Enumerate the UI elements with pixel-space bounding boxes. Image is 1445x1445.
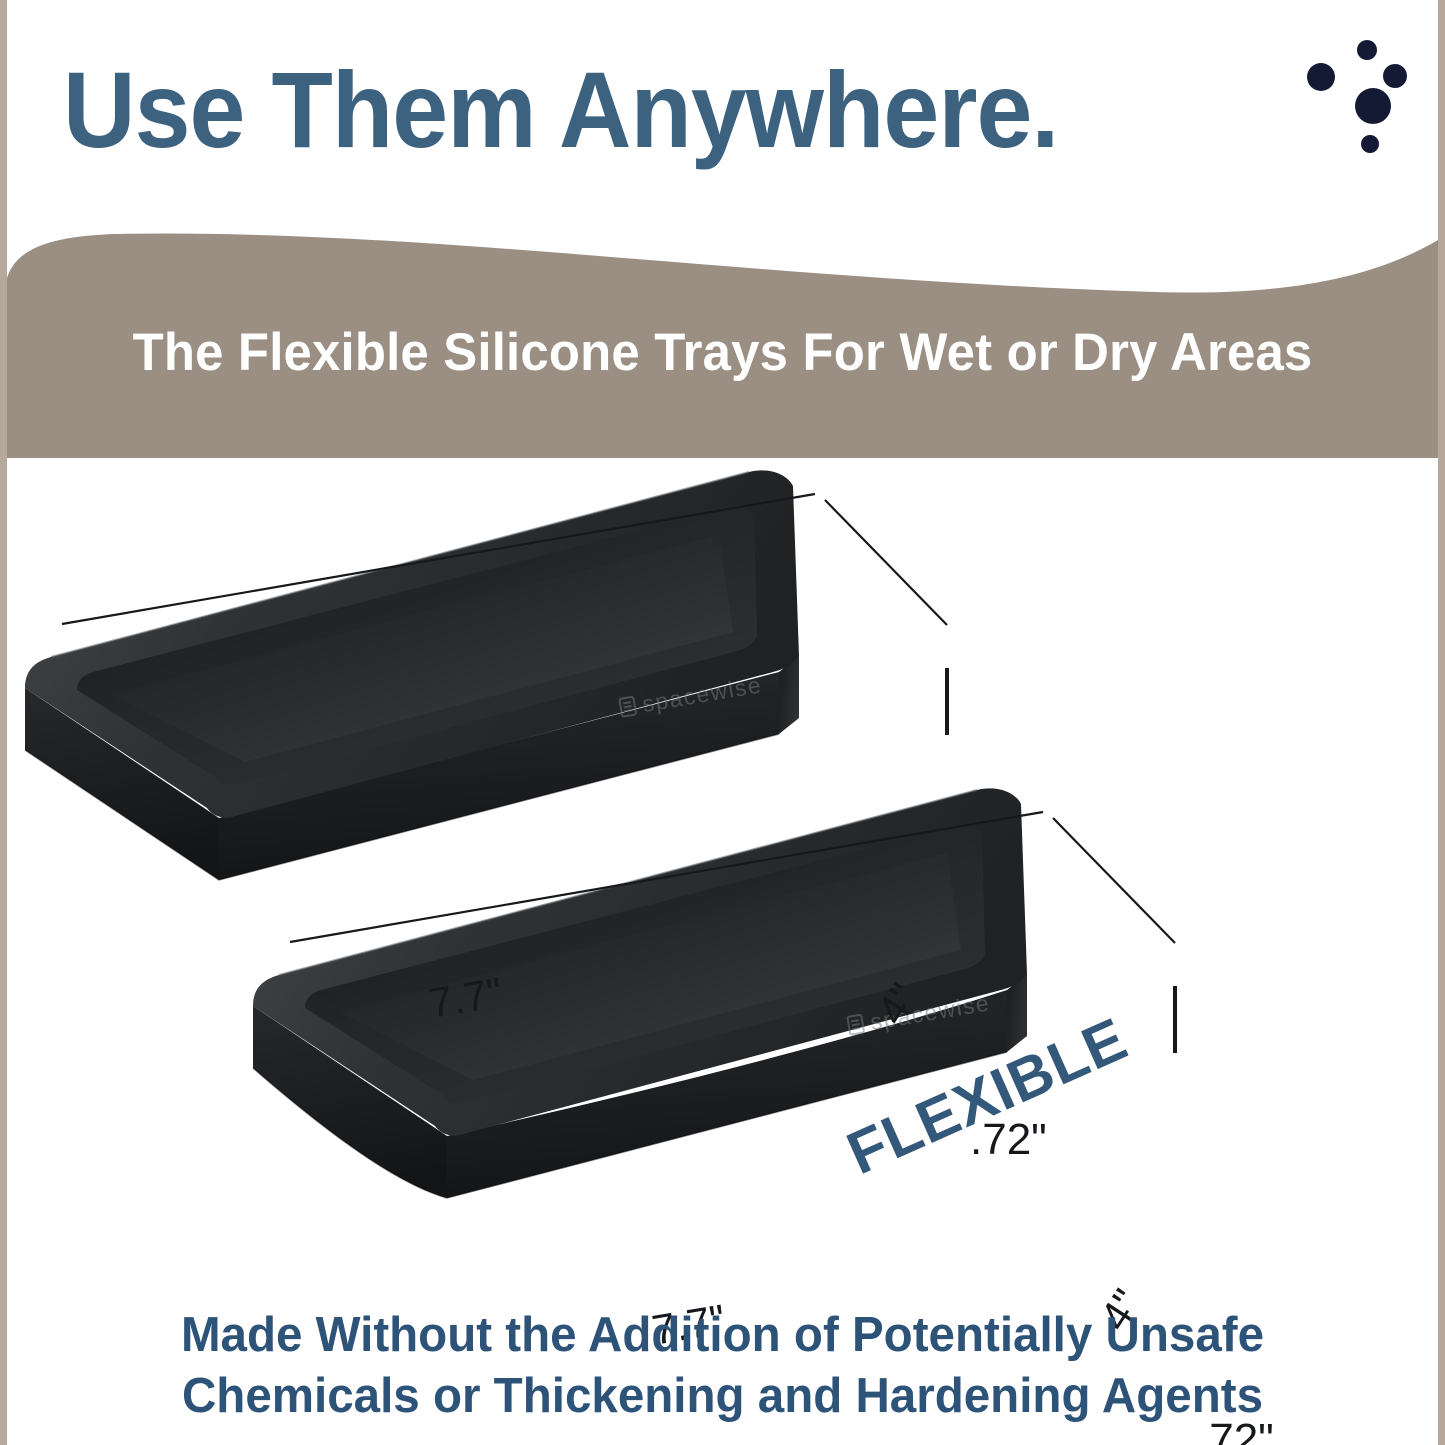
infographic-page: Use Them Anywhere. The Flexible Silicone… xyxy=(0,0,1445,1445)
footer-line-2: Chemicals or Thickening and Hardening Ag… xyxy=(28,1366,1416,1427)
footer-line-1: Made Without the Addition of Potentially… xyxy=(28,1305,1416,1366)
dimension-line-width-top xyxy=(825,500,947,625)
decorative-dots-cluster xyxy=(1307,30,1445,180)
page-title: Use Them Anywhere. xyxy=(63,52,1058,169)
subtitle-banner: The Flexible Silicone Trays For Wet or D… xyxy=(7,218,1438,458)
dimension-line-width-bottom xyxy=(1053,818,1175,943)
decor-dot-5 xyxy=(1361,135,1379,153)
decor-dot-4 xyxy=(1355,88,1391,124)
tray-top-graphic: spacewise xyxy=(25,470,947,880)
footer-text: Made Without the Addition of Potentially… xyxy=(28,1305,1416,1427)
product-illustration: spacewise xyxy=(7,450,1445,1310)
decor-dot-3 xyxy=(1383,64,1407,88)
banner-title: The Flexible Silicone Trays For Wet or D… xyxy=(36,322,1410,383)
decor-dot-1 xyxy=(1357,40,1377,60)
decor-dot-2 xyxy=(1307,63,1335,91)
trays-svg: spacewise xyxy=(7,450,1445,1310)
